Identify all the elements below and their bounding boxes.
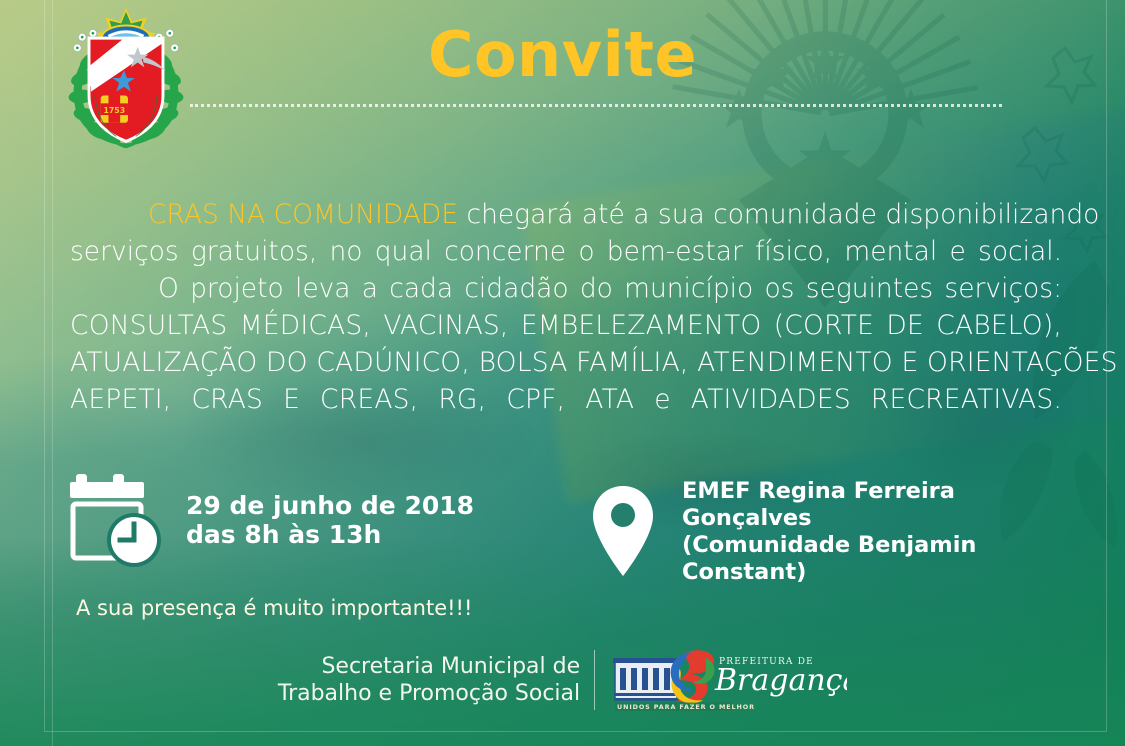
calendar-clock-icon [70, 472, 166, 568]
presence-note: A sua presença é muito importante!!! [76, 596, 472, 620]
event-date-line-2: das 8h às 13h [186, 520, 474, 549]
paragraph-line-3: O projeto leva a cada cidadão do municíp… [70, 270, 1062, 307]
paragraph-line-1: CRAS NA COMUNIDADE chegará até a sua com… [70, 196, 1062, 233]
services-line-3: AEPETI, CRAS E CREAS, RG, CPF, ATA e ATI… [70, 381, 1062, 418]
map-pin-icon [590, 484, 656, 580]
city-hall-building-icon [613, 658, 679, 700]
event-place-block: EMEF Regina Ferreira Gonçalves (Comunida… [590, 478, 1070, 586]
header-divider [190, 104, 1002, 107]
secretaria-text: Secretaria Municipal de Trabalho e Promo… [278, 653, 594, 707]
braganca-swoosh-icon [671, 650, 715, 703]
page-title: Convite [0, 18, 1125, 91]
paragraph-line-3-text: O projeto leva a cada cidadão do municíp… [158, 273, 1062, 304]
event-place-text: EMEF Regina Ferreira Gonçalves (Comunida… [682, 478, 1070, 586]
paragraph-line-1-rest: chegará até a sua comunidade disponibili… [458, 199, 1099, 230]
prefeitura-braganca-logo: PREFEITURA DE Bragança UNIDOS PARA FAZER… [611, 648, 847, 712]
event-date-block: 29 de junho de 2018 das 8h às 13h [70, 472, 474, 568]
body-copy: CRAS NA COMUNIDADE chegará até a sua com… [70, 196, 1062, 418]
services-line-2: ATUALIZAÇÃO DO CADÚNICO, BOLSA FAMÍLIA, … [70, 344, 1062, 381]
event-place-line-1: EMEF Regina Ferreira Gonçalves [682, 478, 1070, 532]
event-info-row: 29 de junho de 2018 das 8h às 13h EMEF R… [70, 468, 1070, 578]
event-date-text: 29 de junho de 2018 das 8h às 13h [186, 491, 474, 549]
cras-highlight: CRAS NA COMUNIDADE [148, 199, 458, 230]
event-place-line-2: (Comunidade Benjamin Constant) [682, 532, 1070, 586]
invitation-poster: 1753 Convite CRAS NA COMUNIDADE chegará … [0, 0, 1125, 746]
paragraph-line-2: serviços gratuitos, no qual concerne o b… [70, 233, 1062, 270]
logo-city-name: Bragança [714, 663, 847, 698]
secretaria-line-1: Secretaria Municipal de [278, 653, 580, 680]
footer: Secretaria Municipal de Trabalho e Promo… [0, 648, 1125, 712]
services-line-1: CONSULTAS MÉDICAS, VACINAS, EMBELEZAMENT… [70, 307, 1062, 344]
logo-tagline: UNIDOS PARA FAZER O MELHOR [617, 703, 755, 711]
secretaria-line-2: Trabalho e Promoção Social [278, 680, 580, 707]
event-date-line-1: 29 de junho de 2018 [186, 491, 474, 520]
coat-of-arms-year: 1753 [104, 106, 126, 115]
footer-divider [594, 650, 595, 710]
